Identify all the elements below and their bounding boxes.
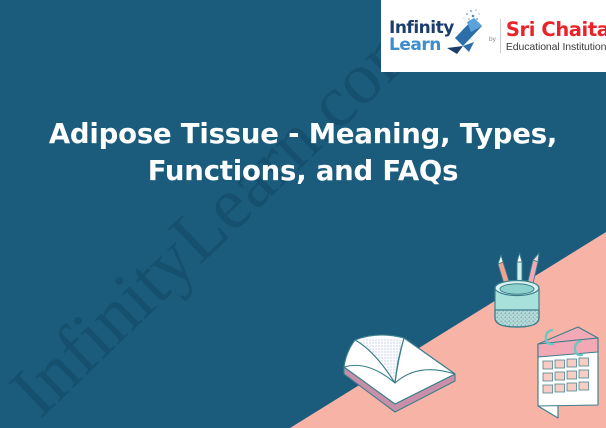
by-label: by xyxy=(485,36,500,43)
particle-dots xyxy=(463,9,479,20)
learn-wordmark: Learn xyxy=(389,35,441,55)
desk-diagonal-shape xyxy=(290,232,606,428)
page-title: Adipose Tissue - Meaning, Types, Functio… xyxy=(0,116,606,189)
brand-subtitle: Educational Institutions xyxy=(506,42,606,53)
brand-name: Sri Chaitanya xyxy=(506,20,606,40)
arrow-tail xyxy=(447,46,463,54)
logo-divider xyxy=(500,19,501,53)
logo-lockup[interactable]: Infinity Learn by xyxy=(381,0,606,72)
rocket-arrow-icon xyxy=(443,8,487,56)
article-banner: InfinityLearn.com xyxy=(0,0,606,428)
infinity-learn-logo[interactable]: Infinity Learn xyxy=(389,10,485,62)
sri-chaitanya-logo[interactable]: Sri Chaitanya Educational Institutions xyxy=(506,20,606,52)
